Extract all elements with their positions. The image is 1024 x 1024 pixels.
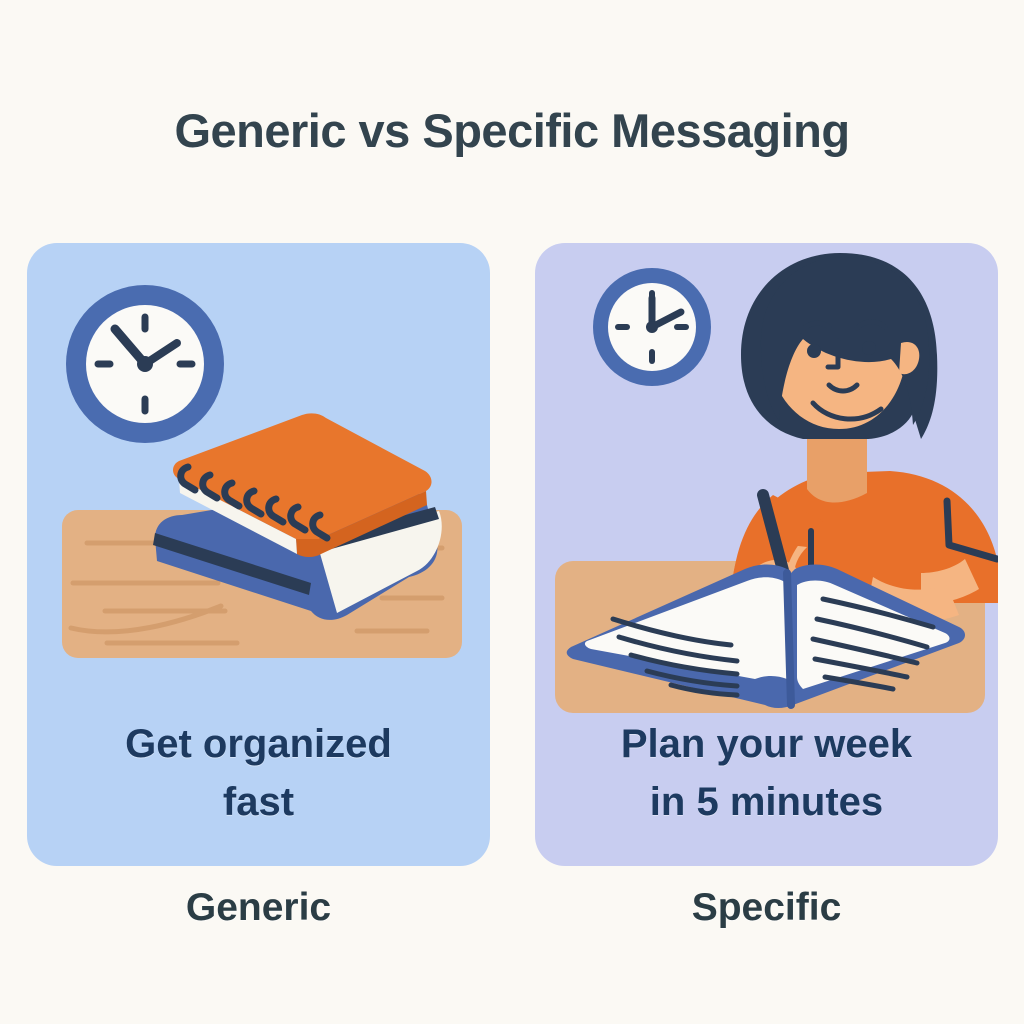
card-specific-message-line2: in 5 minutes: [561, 773, 972, 831]
wall-clock-shape: [66, 285, 224, 443]
infographic-canvas: Generic vs Specific Messaging: [0, 0, 1024, 1024]
wall-clock-shape: [593, 268, 711, 386]
card-specific-message: Plan your week in 5 minutes: [561, 715, 972, 831]
card-generic-label: Generic: [27, 886, 490, 930]
page-title: Generic vs Specific Messaging: [0, 103, 1024, 158]
card-specific-label: Specific: [535, 886, 998, 930]
illustration-clock-and-stacked-books: [27, 243, 490, 713]
card-generic-message-line2: fast: [53, 773, 464, 831]
card-specific-message-line1: Plan your week: [561, 715, 972, 773]
illustration-woman-writing: [535, 243, 998, 713]
card-generic[interactable]: Get organized fast: [27, 243, 490, 866]
card-generic-message: Get organized fast: [53, 715, 464, 831]
card-specific[interactable]: Plan your week in 5 minutes: [535, 243, 998, 866]
card-generic-message-line1: Get organized: [53, 715, 464, 773]
